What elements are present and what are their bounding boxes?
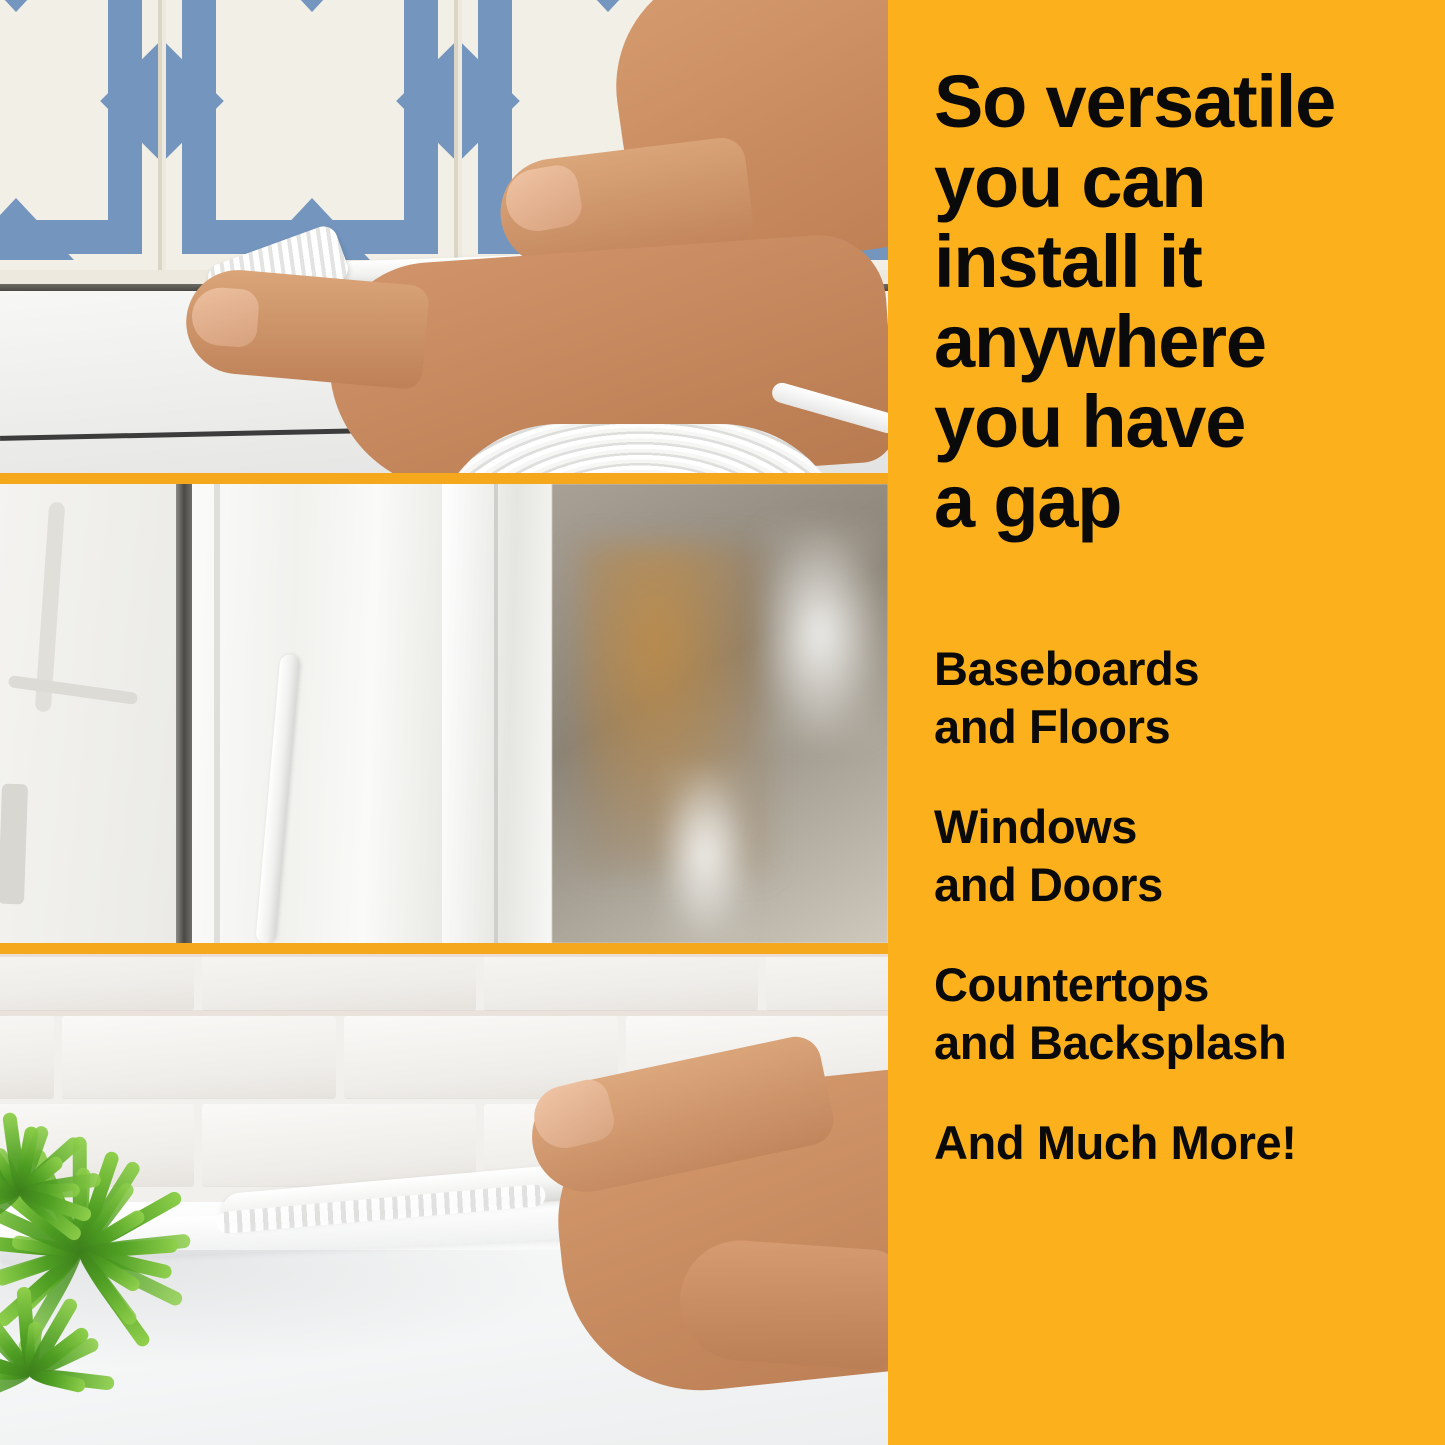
- list-item-line: and Backsplash: [934, 1014, 1444, 1072]
- product-infographic: So versatile you can install it anywhere…: [0, 0, 1445, 1445]
- window-casing: [192, 484, 442, 943]
- photo-column: [0, 0, 888, 1445]
- plant-foliage-lower: [0, 1254, 140, 1445]
- casing-groove: [214, 484, 220, 943]
- photo-panel-brick-counter: [0, 954, 888, 1445]
- wall-texture: [0, 784, 28, 905]
- list-item-line: and Doors: [934, 856, 1444, 914]
- glass-reflection: [660, 764, 750, 943]
- list-item-line: and Floors: [934, 698, 1444, 756]
- glass-reflection: [760, 524, 880, 744]
- brick: [0, 954, 194, 1010]
- headline-line: So versatile: [934, 62, 1434, 142]
- photo-panel-tile-backsplash: [0, 0, 888, 473]
- panel-divider: [0, 473, 888, 484]
- photo-panel-window-casing: [0, 484, 888, 943]
- tile: [0, 0, 162, 270]
- brick: [484, 954, 758, 1010]
- headline: So versatile you can install it anywhere…: [934, 62, 1434, 542]
- brick: [202, 954, 476, 1010]
- info-column: So versatile you can install it anywhere…: [888, 0, 1445, 1445]
- list-item: And Much More!: [934, 1114, 1444, 1172]
- headline-line: install it: [934, 222, 1434, 302]
- list-item: Countertops and Backsplash: [934, 956, 1444, 1072]
- wall-gap-shadow: [176, 484, 192, 943]
- headline-line: a gap: [934, 462, 1434, 542]
- lower-finger: [676, 1236, 888, 1371]
- headline-line: you can: [934, 142, 1434, 222]
- headline-line: you have: [934, 382, 1434, 462]
- list-item-line: And Much More!: [934, 1114, 1444, 1172]
- brick: [766, 954, 888, 1010]
- panel-divider: [0, 943, 888, 954]
- list-item: Windows and Doors: [934, 798, 1444, 914]
- list-item-line: Countertops: [934, 956, 1444, 1014]
- list-item-line: Windows: [934, 798, 1444, 856]
- jamb-edge: [494, 484, 498, 943]
- use-case-list: Baseboards and Floors Windows and Doors …: [934, 640, 1444, 1172]
- headline-line: anywhere: [934, 302, 1434, 382]
- list-item: Baseboards and Floors: [934, 640, 1444, 756]
- list-item-line: Baseboards: [934, 640, 1444, 698]
